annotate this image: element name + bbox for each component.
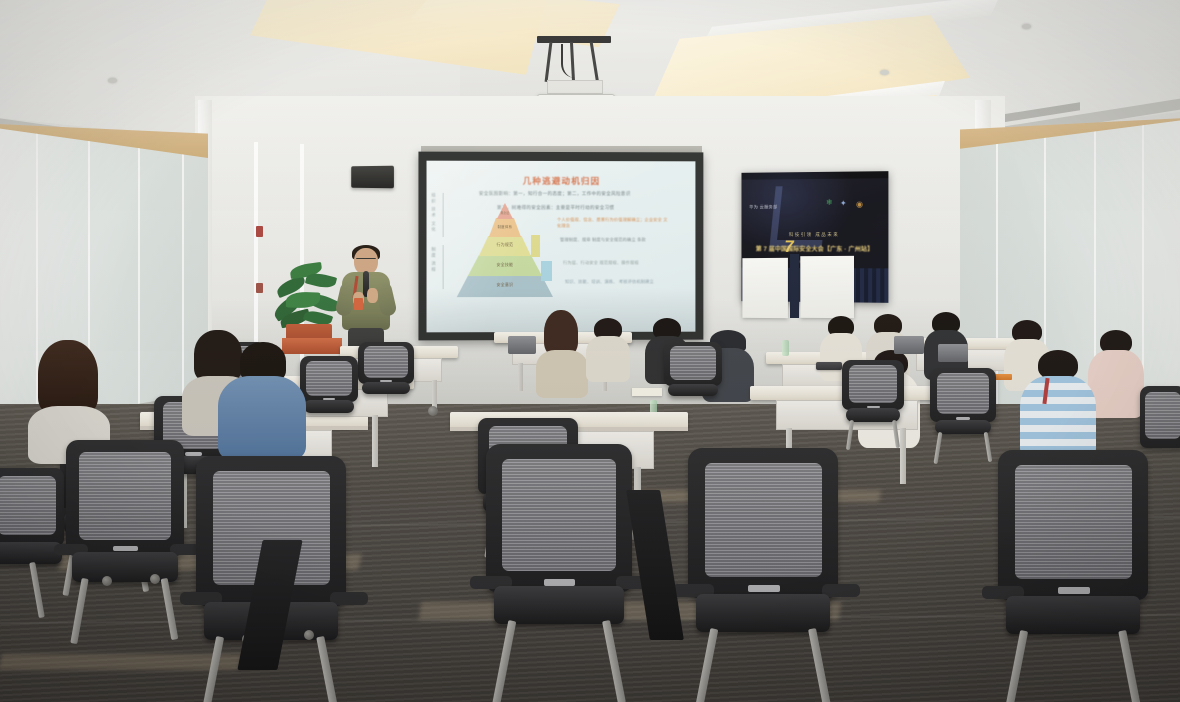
chair-leg xyxy=(846,420,854,450)
chair-leg xyxy=(934,432,943,464)
chair-badge xyxy=(544,579,575,586)
attendee-hair xyxy=(38,340,98,414)
chair-seat xyxy=(0,542,62,564)
attendee-torso xyxy=(586,336,630,382)
ceiling-sprinkler-1 xyxy=(108,78,117,83)
projector-bracket xyxy=(547,80,603,94)
chair-leg xyxy=(984,432,993,462)
attendee-striped-shirt xyxy=(1020,350,1096,460)
attendee-pink-shirt xyxy=(1088,330,1144,416)
chair-leg xyxy=(694,628,719,702)
chair-seat xyxy=(72,552,178,582)
laptop xyxy=(508,336,536,354)
projector-mount-plate xyxy=(537,36,611,43)
banner-main-text: 第 7 届中国国际安全大会【广东 · 广州站】 xyxy=(741,244,888,253)
chair-leg xyxy=(200,636,224,702)
presenter-badge xyxy=(354,298,363,310)
chair-mesh xyxy=(849,365,897,403)
chair-backrest xyxy=(358,342,414,384)
chair-mesh xyxy=(937,373,988,414)
laptop xyxy=(816,362,842,370)
chair-front-row-3 xyxy=(486,444,632,694)
chair-leg xyxy=(492,620,517,702)
desk-leg xyxy=(518,363,523,391)
flipchart-left xyxy=(742,258,788,318)
chair-right-1 xyxy=(842,360,904,450)
attendee-back-1 xyxy=(586,318,630,380)
chair-back-left-2 xyxy=(300,356,358,422)
chair-mesh xyxy=(364,346,408,378)
chair-back-center xyxy=(664,342,722,404)
chair-mesh xyxy=(670,346,715,379)
chair-backrest xyxy=(486,444,632,592)
ceiling-sprinkler-3 xyxy=(880,70,889,75)
projection-screen-surface: 几种逃避动机归因 组织 技术 文化 制度 流程 安全氛围影响：第一，知行合一的态… xyxy=(427,161,696,333)
attendee-ponytail xyxy=(536,310,588,396)
chair-seat xyxy=(304,400,354,413)
chair-leg xyxy=(808,628,832,702)
chair-backrest xyxy=(300,356,358,402)
wall-speaker-icon xyxy=(351,166,394,189)
chair-badge xyxy=(113,546,138,552)
plant-leaf-3 xyxy=(305,271,337,291)
chair-caster xyxy=(150,574,160,584)
chair-back-left xyxy=(358,342,414,402)
chair-seat xyxy=(668,384,718,396)
banner-tagline: 科技引领 成品未来 xyxy=(741,232,888,238)
globe-icon: ◉ xyxy=(856,200,863,209)
chair-backrest xyxy=(0,468,64,546)
chair-seat xyxy=(362,382,410,394)
chair-leg xyxy=(602,620,626,702)
chair-mesh xyxy=(79,452,171,540)
attendee-torso xyxy=(218,376,306,460)
projector-rod-3 xyxy=(590,42,600,84)
flipchart-divider xyxy=(790,254,799,318)
chair-backrest xyxy=(998,450,1148,600)
leaf-icon: ❄ xyxy=(826,198,833,207)
dove-icon: ✦ xyxy=(840,199,847,208)
chair-seat xyxy=(696,594,830,632)
notepad xyxy=(632,388,662,396)
chair-front-row-5 xyxy=(998,450,1148,702)
chair-mesh xyxy=(705,463,822,577)
eyeglasses-icon xyxy=(356,258,376,263)
chair-leg xyxy=(1118,630,1141,702)
chair-seat xyxy=(935,420,991,434)
chair-caster xyxy=(102,576,112,586)
chair-seat xyxy=(1006,596,1140,634)
screen-glare xyxy=(427,161,696,333)
fire-alarm-icon xyxy=(256,226,263,237)
chair-backrest xyxy=(930,368,996,422)
chair-seat xyxy=(494,586,624,624)
attendee-torso xyxy=(536,350,588,398)
banner-corp-text: 华为 云服务部 xyxy=(749,204,777,210)
attendee-denim xyxy=(218,342,306,458)
chair-mesh xyxy=(1015,465,1132,579)
chair-leg xyxy=(1004,630,1028,702)
potted-plant xyxy=(272,252,346,346)
projector-cable xyxy=(561,44,579,78)
chair-mesh xyxy=(0,476,56,535)
chair-badge xyxy=(748,585,780,593)
attendee-torso xyxy=(1088,350,1144,418)
chair-mesh xyxy=(1145,392,1180,439)
laptop xyxy=(938,344,968,362)
chair-leg xyxy=(70,578,88,644)
chair-front-left-edge xyxy=(0,468,64,618)
projector-rod-1 xyxy=(545,42,553,82)
chair-leg xyxy=(161,578,179,640)
chair-front-row-1 xyxy=(66,440,184,640)
chair-backrest xyxy=(842,360,904,410)
desk-leg xyxy=(372,415,378,467)
chair-right-2 xyxy=(930,368,996,464)
chair-mesh xyxy=(502,459,616,571)
chair-backrest xyxy=(664,342,722,386)
flipchart-right xyxy=(800,256,854,318)
water-bottle xyxy=(782,340,789,356)
desk-caster xyxy=(428,406,438,416)
chair-backrest xyxy=(66,440,184,556)
chair-backrest xyxy=(688,448,838,598)
chair-front-row-4 xyxy=(688,448,838,702)
presenter-hand-right xyxy=(367,288,378,303)
chair-badge xyxy=(1058,587,1090,595)
chair-leg xyxy=(316,636,339,702)
ceiling-sprinkler-2 xyxy=(1022,24,1031,29)
chair-mesh xyxy=(306,361,351,396)
chair-leg xyxy=(892,420,900,448)
chair-caster xyxy=(304,630,314,640)
training-room-photo: 几种逃避动机归因 组织 技术 文化 制度 流程 安全氛围影响：第一，知行合一的态… xyxy=(0,0,1180,702)
chair-leg xyxy=(29,562,45,618)
fire-alarm-icon-2 xyxy=(256,283,263,293)
laptop xyxy=(894,336,924,354)
chair-backrest xyxy=(1140,386,1180,448)
